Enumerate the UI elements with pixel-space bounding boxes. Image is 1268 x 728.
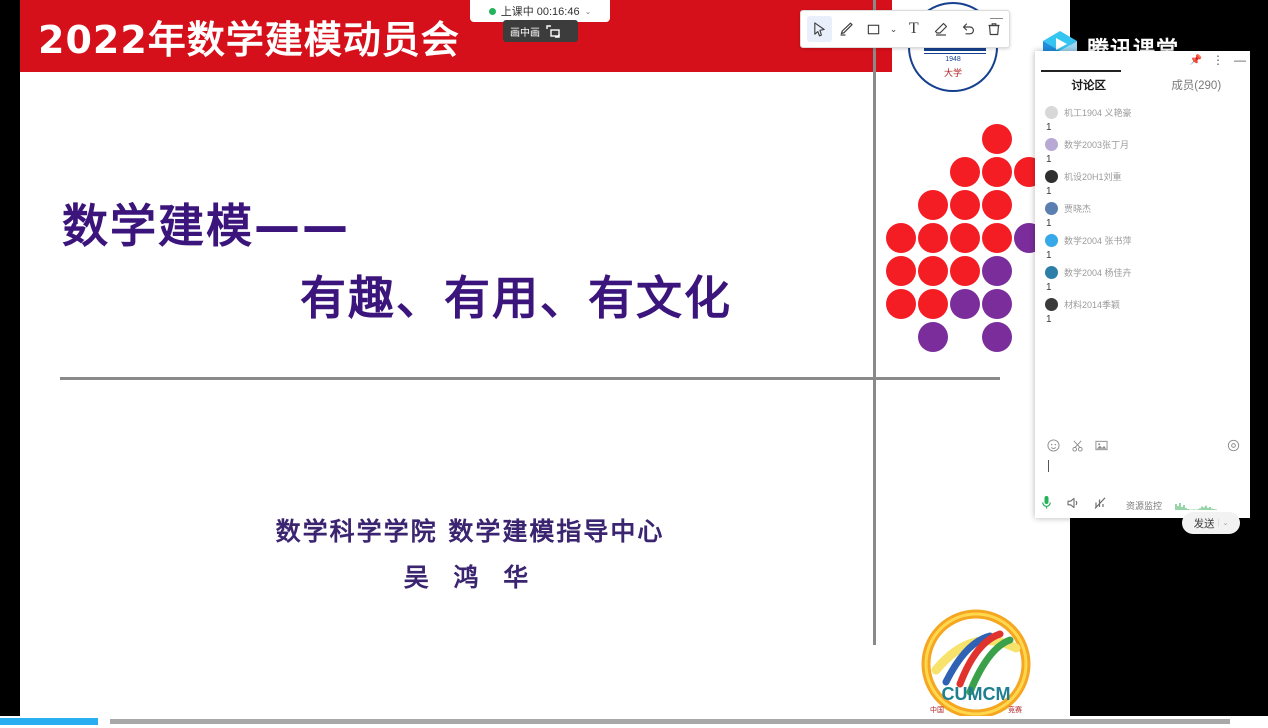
chat-message-header: 材料2014季颖	[1045, 298, 1242, 311]
chat-window-controls: 📌 ⋮ —	[1190, 53, 1246, 67]
decorative-dot	[982, 322, 1012, 352]
chat-message-author: 机设20H1刘重	[1064, 170, 1122, 183]
slide-title-banner: 2022年数学建模动员会	[20, 0, 892, 72]
chat-panel: 📌 ⋮ — 讨论区 成员(290) 机工1904 义艳豪1数学2003张丁月1机…	[1035, 51, 1250, 518]
slide-vertical-rule	[873, 0, 876, 645]
chat-message[interactable]: 数学2004 张书萍1	[1035, 229, 1250, 261]
chat-message-header: 数学2004 张书萍	[1045, 234, 1242, 247]
slide-banner-title: 2022年数学建模动员会	[38, 9, 460, 64]
loading-progress-bar	[0, 718, 98, 725]
decorative-dot	[982, 124, 1012, 154]
chat-message[interactable]: 数学2003张丁月1	[1035, 133, 1250, 165]
more-options-icon[interactable]: ⋮	[1212, 53, 1224, 67]
avatar[interactable]	[1045, 138, 1058, 151]
pen-tool-icon[interactable]	[834, 16, 859, 42]
chat-message[interactable]: 机工1904 义艳豪1	[1035, 101, 1250, 133]
avatar[interactable]	[1045, 234, 1058, 247]
decorative-dot	[886, 289, 916, 319]
class-status-text: 上课中 00:16:46	[501, 3, 580, 19]
slide-subtitle-presenter: 吴 鸿 华	[0, 558, 940, 594]
decorative-dot	[886, 256, 916, 286]
chat-message[interactable]: 数学2004 杨佳卉1	[1035, 261, 1250, 293]
chat-message-text: 1	[1046, 314, 1242, 325]
tab-discussion[interactable]: 讨论区	[1035, 73, 1143, 99]
text-tool-icon[interactable]: T	[901, 16, 926, 42]
cumcm-logo-text: CUMCM	[942, 684, 1011, 704]
decorative-dot	[886, 223, 916, 253]
resource-monitor-sparkline	[1175, 500, 1217, 511]
chat-message-list[interactable]: 机工1904 义艳豪1数学2003张丁月1机设20H1刘重1贾晓杰1数学2004…	[1035, 101, 1250, 431]
class-status-pill[interactable]: 上课中 00:16:46 ⌄	[470, 0, 610, 22]
screen: 2022年数学建模动员会 数学建模—— 有趣、有用、有文化 数学科学学院 数学建…	[0, 0, 1268, 728]
tab-members[interactable]: 成员(290)	[1143, 73, 1251, 99]
decorative-dot	[950, 256, 980, 286]
decorative-dot	[950, 157, 980, 187]
chat-message-text: 1	[1046, 282, 1242, 293]
slide-subtitle-department: 数学科学学院 数学建模指导中心	[0, 512, 940, 548]
toolbar-minimize-button[interactable]: —	[990, 13, 1003, 23]
eraser-tool-icon[interactable]	[928, 16, 953, 42]
chat-message-author: 机工1904 义艳豪	[1064, 106, 1132, 119]
decorative-dot	[982, 190, 1012, 220]
decorative-dot	[982, 223, 1012, 253]
avatar[interactable]	[1045, 202, 1058, 215]
window-scrollbar-track[interactable]	[110, 719, 1230, 724]
chat-message-header: 贾晓杰	[1045, 202, 1242, 215]
expand-icon[interactable]	[546, 25, 560, 38]
chat-message[interactable]: 材料2014季颖1	[1035, 293, 1250, 325]
chat-message-header: 机设20H1刘重	[1045, 170, 1242, 183]
resource-monitor-label: 资源监控	[1126, 499, 1162, 512]
chevron-down-icon[interactable]: ⌄	[585, 7, 592, 16]
decorative-dot	[950, 289, 980, 319]
decorative-dot	[918, 322, 948, 352]
mic-icon[interactable]	[1040, 495, 1053, 515]
chat-message-author: 数学2003张丁月	[1064, 138, 1129, 151]
avatar[interactable]	[1045, 298, 1058, 311]
chat-message-author: 材料2014季颖	[1064, 298, 1120, 311]
decorative-dot	[918, 256, 948, 286]
tab-active-underline	[1041, 70, 1121, 72]
shape-tool-icon[interactable]	[861, 16, 886, 42]
chat-message-author: 贾晓杰	[1064, 202, 1091, 215]
chevron-down-icon[interactable]: ⌄	[888, 16, 900, 42]
svg-text:竞赛: 竞赛	[1008, 705, 1022, 714]
chat-message-text: 1	[1046, 154, 1242, 165]
decorative-dot-pattern	[886, 124, 1036, 354]
avatar[interactable]	[1045, 266, 1058, 279]
slide-headline-line2: 有趣、有用、有文化	[300, 262, 732, 328]
chat-message[interactable]: 机设20H1刘重1	[1035, 165, 1250, 197]
speaker-icon[interactable]	[1066, 496, 1080, 515]
chat-message[interactable]: 贾晓杰1	[1035, 197, 1250, 229]
chat-message-text: 1	[1046, 186, 1242, 197]
media-status-bar: 资源监控	[1040, 494, 1230, 516]
chat-message-text: 1	[1046, 122, 1242, 133]
minimize-icon[interactable]: —	[1234, 53, 1246, 67]
decorative-dot	[982, 289, 1012, 319]
decorative-dot	[950, 223, 980, 253]
chat-message-header: 机工1904 义艳豪	[1045, 106, 1242, 119]
avatar[interactable]	[1045, 106, 1058, 119]
slide-headline-line1: 数学建模——	[62, 190, 350, 256]
shared-slide: 2022年数学建模动员会 数学建模—— 有趣、有用、有文化 数学科学学院 数学建…	[0, 0, 1070, 716]
undo-tool-icon[interactable]	[955, 16, 980, 42]
slide-left-black-edge	[0, 0, 20, 716]
send-button-label: 发送	[1194, 516, 1215, 531]
decorative-dot	[982, 157, 1012, 187]
decorative-dot	[982, 256, 1012, 286]
chat-message-header: 数学2004 杨佳卉	[1045, 266, 1242, 279]
chat-message-text: 1	[1046, 250, 1242, 261]
pip-label: 画中画	[510, 24, 540, 39]
decorative-dot	[918, 289, 948, 319]
seal-caption: 大学	[910, 66, 996, 79]
avatar[interactable]	[1045, 170, 1058, 183]
picture-in-picture-badge[interactable]: 画中画	[503, 20, 578, 42]
slide-horizontal-rule	[60, 377, 1000, 380]
chat-message-author: 数学2004 张书萍	[1064, 234, 1132, 247]
cumcm-logo: CUMCM 中国竞赛	[912, 608, 1040, 726]
send-dropdown-icon[interactable]: ⌄	[1218, 519, 1229, 527]
seal-year: 1948	[910, 56, 996, 63]
annotation-toolbar[interactable]: — ⌄ T	[800, 10, 1010, 48]
pin-icon[interactable]: 📌	[1190, 55, 1202, 66]
chat-message-header: 数学2003张丁月	[1045, 138, 1242, 151]
chat-tabs: 讨论区 成员(290)	[1035, 73, 1250, 99]
signal-off-icon[interactable]	[1093, 496, 1107, 515]
decorative-dot	[950, 190, 980, 220]
chat-message-author: 数学2004 杨佳卉	[1064, 266, 1132, 279]
live-dot-icon	[489, 8, 496, 15]
decorative-dot	[918, 223, 948, 253]
chat-message-text: 1	[1046, 218, 1242, 229]
select-tool-icon[interactable]	[807, 16, 832, 42]
svg-text:中国: 中国	[930, 705, 944, 714]
decorative-dot	[918, 190, 948, 220]
